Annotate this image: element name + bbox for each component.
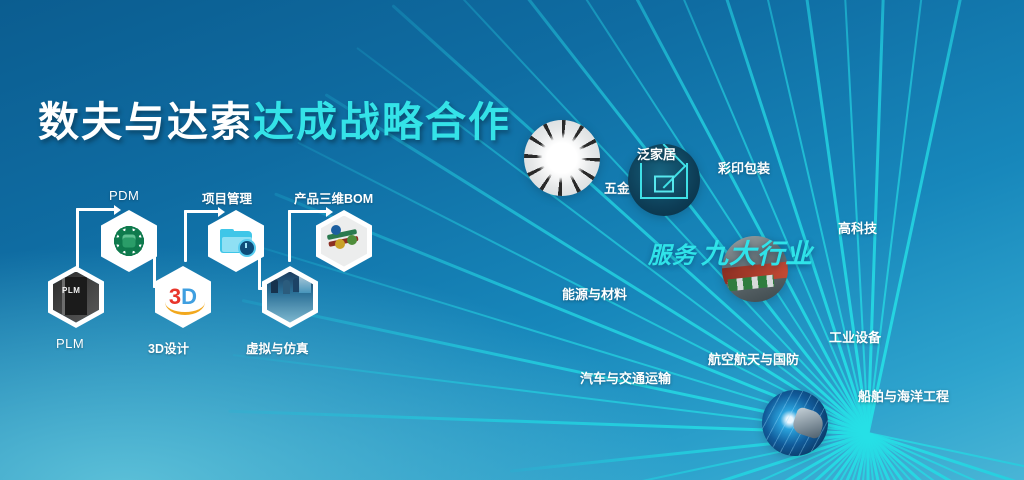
- industry-label-marine: 船舶与海洋工程: [858, 386, 949, 405]
- smart-home-window-icon: [654, 176, 674, 193]
- server-tower-icon: PLM: [53, 272, 99, 323]
- flow-label-simulation: 虚拟与仿真: [246, 338, 309, 357]
- plm-flow-diagram: PLM PLM PDM 3D 3D设计: [30, 178, 430, 368]
- gear-database-icon: [114, 226, 144, 256]
- industry-label-hitech: 高科技: [838, 218, 877, 237]
- page-title: 数夫与达索达成战略合作: [38, 88, 511, 148]
- industry-label-automotive: 汽车与交通运输: [580, 368, 671, 387]
- flow-label-bom: 产品三维BOM: [294, 188, 373, 207]
- assembly-model-icon: [321, 216, 367, 267]
- industry-circle-hitech[interactable]: [762, 390, 828, 456]
- slogan: 服务九大行业: [648, 232, 813, 271]
- industry-circle-hardware[interactable]: [524, 120, 600, 196]
- industry-label-industrial-equipment: 工业设备: [829, 327, 881, 346]
- simulation-photo-icon: [267, 272, 313, 323]
- 3d-design-icon: 3D: [169, 286, 197, 308]
- folder-gear-icon: [220, 229, 252, 253]
- slogan-prefix: 服务: [648, 242, 696, 268]
- industry-label-aerospace: 航空航天与国防: [708, 349, 799, 368]
- promo-banner: 数夫与达索达成战略合作: [0, 0, 1024, 480]
- page-title-primary: 数夫与达索: [38, 99, 253, 145]
- industry-label-printing: 彩印包装: [718, 158, 770, 177]
- flow-node-plm[interactable]: PLM: [48, 266, 104, 328]
- slogan-emphasis: 九大行业: [701, 239, 813, 269]
- flow-label-3d-design: 3D设计: [148, 338, 189, 357]
- flow-label-plm: PLM: [56, 336, 84, 351]
- flow-label-pdm: PDM: [109, 188, 139, 203]
- flow-label-project-management: 项目管理: [202, 188, 252, 207]
- industry-label-energy: 能源与材料: [562, 284, 627, 303]
- page-title-accent: 达成战略合作: [253, 99, 511, 145]
- industry-label-smart-home: 泛家居: [637, 144, 676, 163]
